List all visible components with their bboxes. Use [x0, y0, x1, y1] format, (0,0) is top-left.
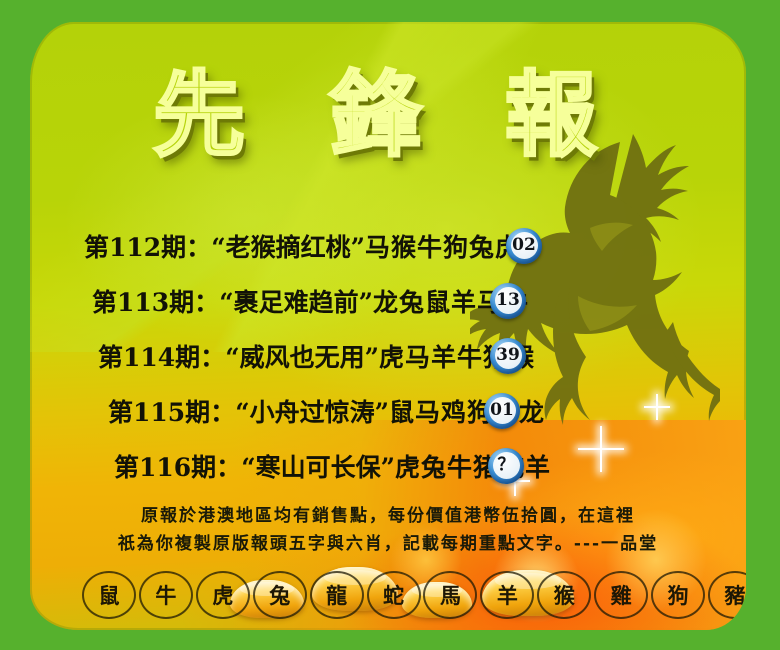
sparkle-icon — [578, 426, 624, 472]
footnote-line: 原報於港澳地區均有銷售點，每份價值港幣伍拾圓，在這裡 — [30, 502, 746, 530]
lottery-ball: 39 — [490, 338, 526, 374]
zodiac-text: 鼠马鸡狗虎龙 — [389, 393, 545, 429]
lottery-ball-number: 39 — [495, 342, 522, 369]
phrase-text: “老猴摘红桃” — [211, 228, 365, 264]
prediction-list: 第112期： “老猴摘红桃” 马猴牛狗兔虎 02 第113期： “裹足难趋前” … — [76, 218, 546, 493]
zodiac-pig-icon: 豬 — [708, 571, 746, 619]
phrase-text: “威风也无用” — [225, 338, 379, 374]
lottery-ball-number: 13 — [495, 287, 522, 314]
issue-label: 第115期： — [108, 393, 235, 429]
issue-label: 第112期： — [84, 228, 211, 264]
zodiac-text: 虎兔牛猪蛇羊 — [395, 448, 551, 484]
poster-root: 先 鋒 報 第112期： “老猴摘红桃” 马猴牛狗兔虎 02 第113期： “裹… — [0, 0, 780, 650]
prediction-row: 第116期： “寒山可长保” 虎兔牛猪蛇羊 ？ — [76, 438, 546, 493]
page-title: 先 鋒 報 — [30, 70, 746, 162]
prediction-row: 第112期： “老猴摘红桃” 马猴牛狗兔虎 02 — [76, 218, 546, 273]
lottery-ball: 02 — [506, 228, 542, 264]
issue-label: 第116期： — [114, 448, 241, 484]
poster-panel: 先 鋒 報 第112期： “老猴摘红桃” 马猴牛狗兔虎 02 第113期： “裹… — [30, 22, 746, 630]
sparkle-icon — [644, 394, 670, 420]
zodiac-rooster-icon: 雞 — [594, 571, 648, 619]
prediction-row: 第113期： “裹足难趋前” 龙兔鼠羊马牛 13 — [76, 273, 546, 328]
zodiac-row: 鼠 牛 虎 兔 龍 蛇 馬 羊 猴 雞 狗 豬 — [82, 572, 746, 618]
footnote-block: 原報於港澳地區均有銷售點，每份價值港幣伍拾圓，在這裡 祇為你複製原版報頭五字與六… — [30, 502, 746, 558]
lottery-ball: 13 — [490, 283, 526, 319]
zodiac-dragon-icon: 龍 — [310, 571, 364, 619]
lottery-ball-number: ？ — [493, 452, 520, 479]
zodiac-dog-icon: 狗 — [651, 571, 705, 619]
zodiac-ox-icon: 牛 — [139, 571, 193, 619]
issue-label: 第114期： — [98, 338, 225, 374]
phrase-text: “小舟过惊涛” — [235, 393, 389, 429]
prediction-row: 第115期： “小舟过惊涛” 鼠马鸡狗虎龙 01 — [76, 383, 546, 438]
zodiac-snake-icon: 蛇 — [367, 571, 421, 619]
zodiac-horse-icon: 馬 — [423, 571, 477, 619]
zodiac-rabbit-icon: 兔 — [253, 571, 307, 619]
footnote-line: 祇為你複製原版報頭五字與六肖，記載每期重點文字。---一品堂 — [30, 530, 746, 558]
lottery-ball: 01 — [484, 393, 520, 429]
zodiac-monkey-icon: 猴 — [537, 571, 591, 619]
lottery-ball-unknown: ？ — [488, 448, 524, 484]
zodiac-rat-icon: 鼠 — [82, 571, 136, 619]
phrase-text: “寒山可长保” — [241, 448, 395, 484]
lottery-ball-number: 01 — [489, 397, 516, 424]
zodiac-text: 马猴牛狗兔虎 — [365, 228, 521, 264]
phrase-text: “裹足难趋前” — [219, 283, 373, 319]
zodiac-goat-icon: 羊 — [480, 571, 534, 619]
zodiac-tiger-icon: 虎 — [196, 571, 250, 619]
issue-label: 第113期： — [92, 283, 219, 319]
lottery-ball-number: 02 — [511, 232, 538, 259]
prediction-row: 第114期： “威风也无用” 虎马羊牛猪猴 39 — [76, 328, 546, 383]
